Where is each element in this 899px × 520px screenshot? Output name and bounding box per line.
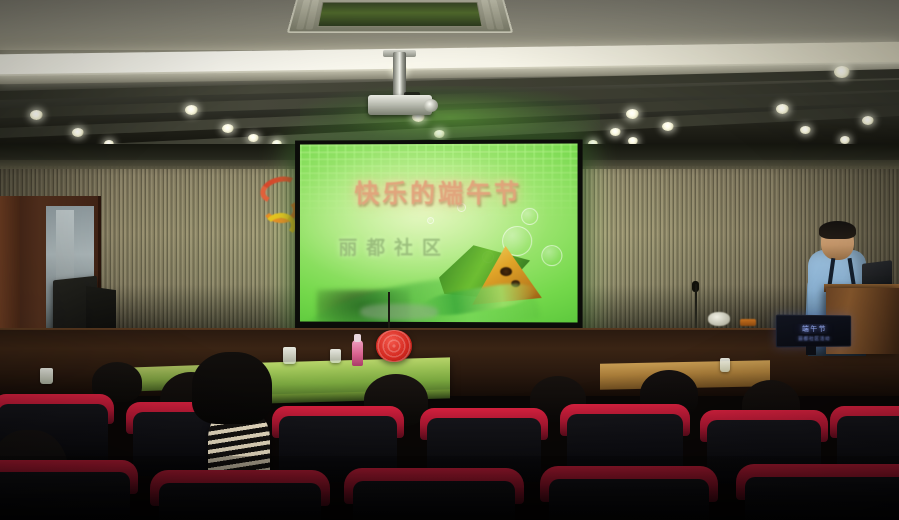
- slide-subtitle: 丽都社区: [316, 233, 577, 260]
- ceiling: [0, 0, 899, 146]
- ceiling-downlight: [800, 126, 811, 134]
- microphone-stem: [695, 284, 697, 328]
- ceiling-downlight: [776, 104, 789, 114]
- projection-screen-frame: 快乐的端午节 丽都社区: [295, 139, 583, 329]
- projection-screen: 快乐的端午节 丽都社区: [300, 143, 578, 322]
- auditorium-photo: 快乐的端午节 丽都社区 端午节 丽都社区活动: [0, 0, 899, 520]
- pink-bottle-cap: [354, 334, 361, 342]
- seat-back-front: [159, 483, 321, 520]
- orange-object-on-desk: [740, 319, 756, 326]
- ceiling-downlight: [434, 130, 445, 138]
- seat-back-front: [353, 481, 515, 520]
- ceiling-downlight: [30, 110, 43, 120]
- ceiling-downlight: [72, 128, 84, 137]
- ceiling-downlight: [862, 116, 874, 125]
- projector-lens-icon: [424, 99, 438, 112]
- podium-monitor-display[interactable]: 端午节 丽都社区活动: [776, 315, 851, 348]
- ceiling-downlight: [626, 109, 639, 119]
- white-object-on-desk: [708, 312, 730, 326]
- ceiling-projector: [368, 95, 432, 115]
- seat-back-front: [549, 479, 709, 520]
- monitor-text-line1: 端午节: [783, 324, 845, 334]
- ceiling-downlight: [248, 134, 259, 142]
- microphone-stem-secondary: [388, 292, 390, 328]
- audience-head-woman: [192, 352, 272, 424]
- slide-bubble: [427, 217, 434, 224]
- presenter-hair: [819, 221, 856, 239]
- seat-back-front: [745, 477, 899, 520]
- monitor-text-line2: 丽都社区活动: [785, 336, 844, 342]
- ceiling-ac-vent: [287, 0, 514, 33]
- audience-seating-area: [0, 352, 899, 520]
- ceiling-downlight: [222, 124, 234, 133]
- ceiling-downlight: [834, 66, 850, 78]
- projector-mount-pole: [393, 52, 406, 96]
- ceiling-downlight: [185, 105, 198, 115]
- ceiling-downlight: [610, 128, 621, 136]
- zongzi-filling-spot: [500, 267, 512, 276]
- ceiling-downlight: [840, 136, 850, 144]
- slide-bottom-shadow: [361, 304, 438, 320]
- slide-title: 快乐的端午节: [300, 174, 578, 210]
- ac-vent-grille: [317, 2, 482, 27]
- seat-back-front: [0, 472, 130, 520]
- door-leaf[interactable]: [0, 196, 20, 344]
- ceiling-downlight: [662, 122, 674, 131]
